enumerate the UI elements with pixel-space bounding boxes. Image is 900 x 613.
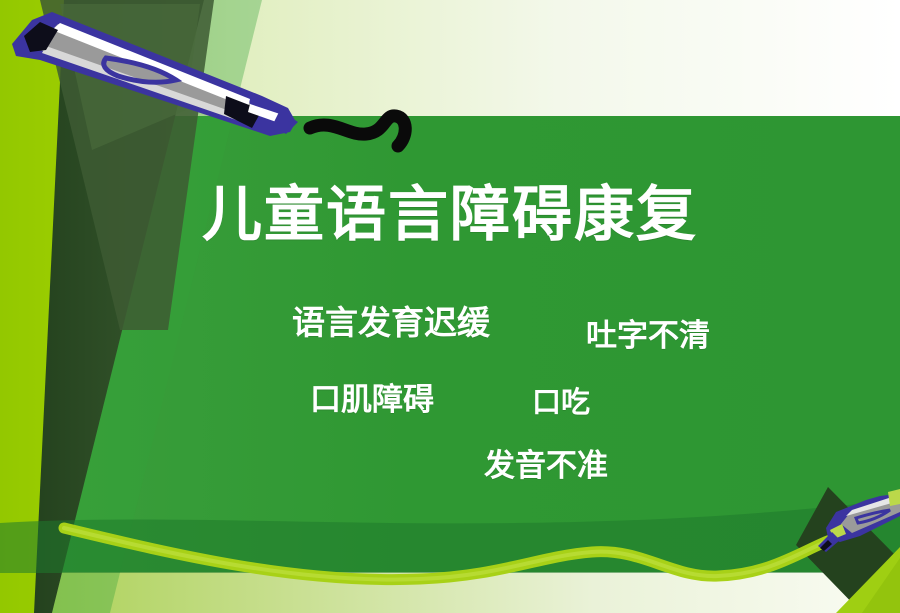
poster-canvas: 儿童语言障碍康复 语言发育迟缓 吐字不清 口肌障碍 口吃 发音不准 — [0, 0, 900, 613]
background-artwork — [0, 0, 900, 613]
